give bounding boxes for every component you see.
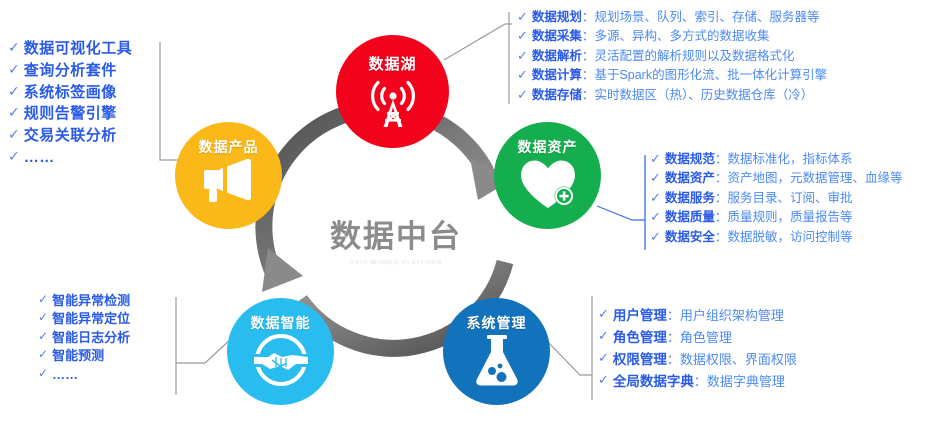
- check-icon: ✓: [38, 310, 48, 326]
- handshake-icon: [252, 333, 310, 387]
- center-subtitle: DATA MIDDLE PLATFORM: [349, 260, 442, 266]
- check-icon: ✓: [598, 371, 609, 388]
- node-label-data-asset: 数据资产: [518, 137, 578, 157]
- node-label-system-management: 系统管理: [467, 313, 527, 333]
- list-item: ✓智能预测: [38, 347, 130, 365]
- node-data-intelligence[interactable]: 数据智能: [227, 298, 334, 405]
- megaphone-icon: [199, 157, 259, 205]
- check-icon: ✓: [8, 147, 20, 165]
- node-data-product[interactable]: 数据产品: [175, 122, 282, 229]
- node-label-data-product: 数据产品: [199, 137, 259, 157]
- check-icon: ✓: [517, 8, 528, 25]
- check-icon: ✓: [517, 47, 528, 64]
- list-item: ✓用户管理：用户组织架构管理: [598, 305, 797, 327]
- check-icon: ✓: [517, 86, 528, 103]
- list-item: ✓智能异常定位: [38, 310, 130, 328]
- check-icon: ✓: [8, 125, 20, 143]
- list-item: ✓……: [38, 366, 130, 384]
- text-block-data-product: ✓数据可视化工具 ✓查询分析套件 ✓系统标签画像 ✓规则告警引擎 ✓交易关联分析…: [8, 38, 132, 169]
- flask-icon: [472, 333, 522, 387]
- list-item: ✓智能异常检测: [38, 292, 130, 310]
- page-title: 数据中台: [330, 211, 462, 256]
- node-data-asset[interactable]: 数据资产: [494, 122, 601, 229]
- check-icon: ✓: [598, 349, 609, 366]
- list-item: ✓数据计算：基于Spark的图形化流、批一体化计算引擎: [517, 66, 827, 85]
- list-item: ✓全局数据字典：数据字典管理: [598, 371, 797, 393]
- list-item: ✓数据规划：规划场景、队列、索引、存储、服务器等: [517, 8, 827, 27]
- list-item: ✓规则告警引擎: [8, 103, 132, 125]
- check-icon: ✓: [38, 329, 48, 345]
- list-item: ✓角色管理：角色管理: [598, 327, 797, 349]
- list-item: ✓数据质量：质量规则，质量报告等: [650, 208, 902, 227]
- list-item: ✓……: [8, 147, 132, 169]
- check-icon: ✓: [8, 82, 20, 100]
- list-item: ✓交易关联分析: [8, 125, 132, 147]
- heart-plus-icon: [517, 157, 579, 211]
- text-block-system-management: ✓用户管理：用户组织架构管理 ✓角色管理：角色管理 ✓权限管理：数据权限、界面权…: [598, 305, 797, 392]
- check-icon: ✓: [8, 60, 20, 78]
- list-item: ✓数据解析：灵活配置的解析规则以及数据格式化: [517, 47, 827, 66]
- check-icon: ✓: [38, 292, 48, 308]
- list-item: ✓数据资产：资产地图，元数据管理、血缘等: [650, 169, 902, 188]
- check-icon: ✓: [517, 66, 528, 83]
- list-item: ✓智能日志分析: [38, 329, 130, 347]
- list-item: ✓查询分析套件: [8, 60, 132, 82]
- node-label-data-lake: 数据湖: [368, 53, 416, 74]
- text-block-data-asset: ✓数据规范：数据标准化，指标体系 ✓数据资产：资产地图，元数据管理、血缘等 ✓数…: [650, 150, 902, 247]
- check-icon: ✓: [650, 228, 661, 245]
- text-block-data-lake: ✓数据规划：规划场景、队列、索引、存储、服务器等 ✓数据采集：多源、异构、多方式…: [517, 8, 827, 105]
- diagram-canvas: 数据中台 DATA MIDDLE PLATFORM 数据湖 数据资产: [0, 0, 931, 428]
- list-item: ✓权限管理：数据权限、界面权限: [598, 349, 797, 371]
- check-icon: ✓: [38, 366, 48, 382]
- check-icon: ✓: [650, 189, 661, 206]
- node-system-management[interactable]: 系统管理: [443, 298, 550, 405]
- check-icon: ✓: [650, 208, 661, 225]
- broadcast-tower-icon: [367, 74, 419, 130]
- list-item: ✓数据服务：服务目录、订阅、审批: [650, 189, 902, 208]
- check-icon: ✓: [650, 150, 661, 167]
- check-icon: ✓: [598, 305, 609, 322]
- center-label: 数据中台 DATA MIDDLE PLATFORM: [296, 203, 496, 273]
- list-item: ✓数据采集：多源、异构、多方式的数据收集: [517, 27, 827, 46]
- list-item: ✓数据规范：数据标准化，指标体系: [650, 150, 902, 169]
- node-data-lake[interactable]: 数据湖: [336, 35, 449, 148]
- check-icon: ✓: [8, 103, 20, 121]
- check-icon: ✓: [650, 169, 661, 186]
- list-item: ✓系统标签画像: [8, 82, 132, 104]
- check-icon: ✓: [8, 38, 20, 56]
- list-item: ✓数据存储：实时数据区（热）、历史数据仓库（冷）: [517, 86, 827, 105]
- check-icon: ✓: [38, 347, 48, 363]
- check-icon: ✓: [517, 27, 528, 44]
- list-item: ✓数据安全：数据脱敏，访问控制等: [650, 228, 902, 247]
- list-item: ✓数据可视化工具: [8, 38, 132, 60]
- text-block-data-intelligence: ✓智能异常检测 ✓智能异常定位 ✓智能日志分析 ✓智能预测 ✓……: [38, 292, 130, 384]
- check-icon: ✓: [598, 327, 609, 344]
- node-label-data-intelligence: 数据智能: [251, 313, 311, 333]
